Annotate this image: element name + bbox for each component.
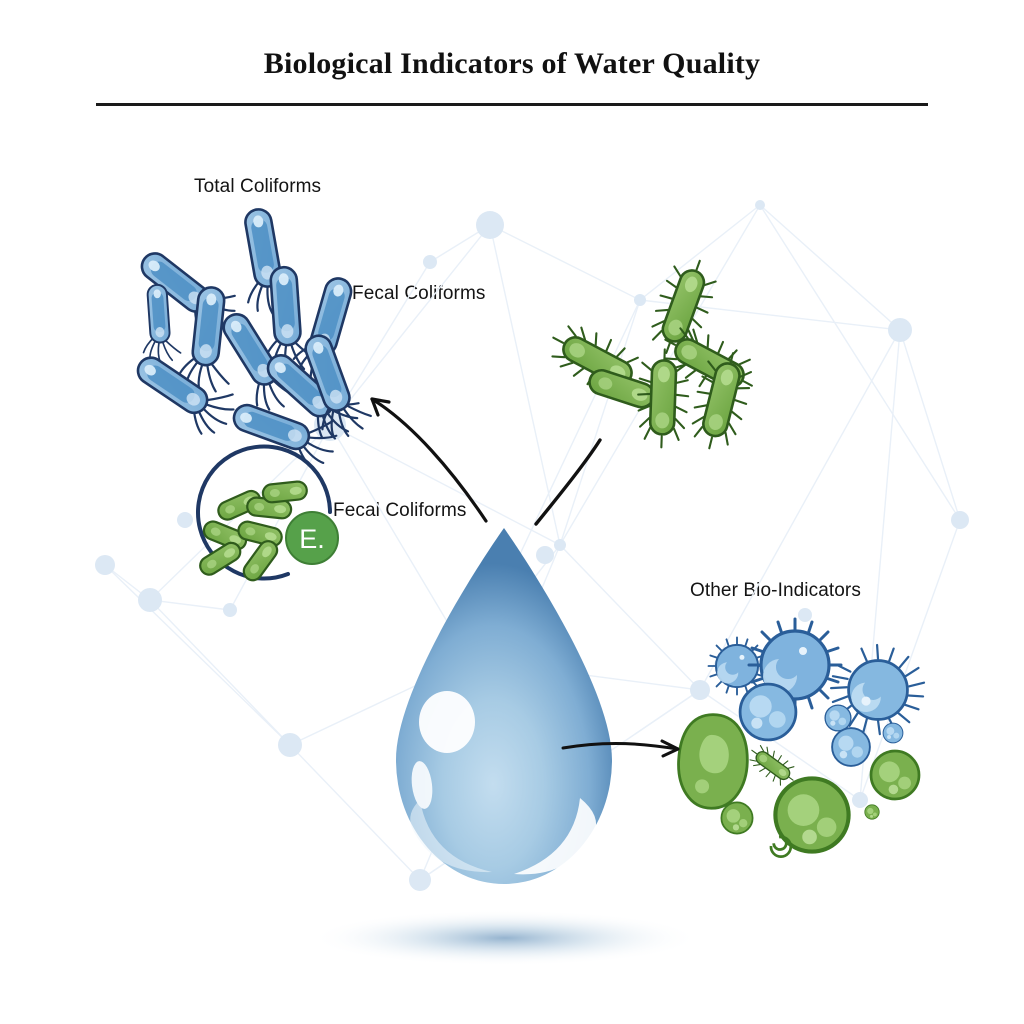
group-fecal-coliforms (542, 252, 764, 454)
droplet-highlight-main (419, 691, 475, 753)
infographic-canvas: Biological Indicators of Water Quality (0, 0, 1024, 1024)
ecoli-badge-label: E. (299, 524, 325, 554)
title-block: Biological Indicators of Water Quality (0, 46, 1024, 82)
water-droplet (396, 528, 612, 884)
title-divider (96, 103, 928, 106)
artwork-layer: E. (0, 0, 1024, 1024)
group-total-coliforms (127, 205, 375, 472)
group-other-bio-indicators (679, 619, 924, 857)
page-title: Biological Indicators of Water Quality (264, 46, 761, 82)
arrow-to-fecal-coliforms (536, 440, 600, 524)
arrow-to-total-coliforms (372, 399, 486, 521)
group-ecoli-petri-dish (197, 447, 338, 584)
droplet-shadow (310, 910, 700, 966)
